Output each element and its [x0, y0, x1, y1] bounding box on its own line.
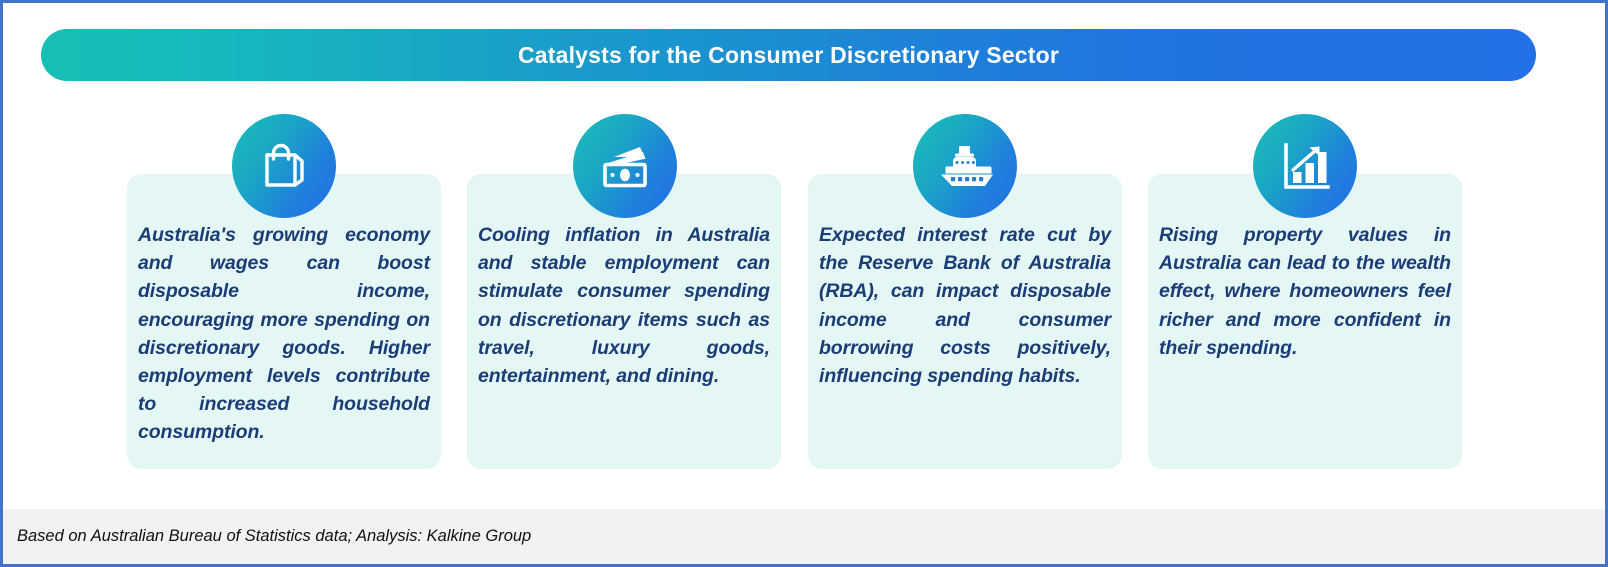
page-title: Catalysts for the Consumer Discretionary…	[518, 42, 1059, 69]
catalyst-card: Cooling inflation in Australia and stabl…	[467, 174, 781, 469]
catalyst-text: Expected interest rate cut by the Reserv…	[819, 221, 1111, 390]
catalyst-card: Australia's growing economy and wages ca…	[127, 174, 441, 469]
catalyst-card-row: Australia's growing economy and wages ca…	[3, 174, 1608, 469]
cruise-ship-icon	[913, 114, 1017, 218]
catalyst-text: Cooling inflation in Australia and stabl…	[478, 221, 770, 390]
infographic-frame: Catalysts for the Consumer Discretionary…	[0, 0, 1608, 567]
catalyst-text: Rising property values in Australia can …	[1159, 221, 1451, 362]
catalyst-card: Expected interest rate cut by the Reserv…	[808, 174, 1122, 469]
footer-bar: Based on Australian Bureau of Statistics…	[3, 509, 1605, 564]
catalyst-card: Rising property values in Australia can …	[1148, 174, 1462, 469]
cash-money-icon	[573, 114, 677, 218]
title-banner: Catalysts for the Consumer Discretionary…	[41, 29, 1536, 81]
catalyst-text: Australia's growing economy and wages ca…	[138, 221, 430, 446]
growth-chart-icon	[1253, 114, 1357, 218]
source-note: Based on Australian Bureau of Statistics…	[17, 527, 531, 546]
shopping-bag-icon	[232, 114, 336, 218]
